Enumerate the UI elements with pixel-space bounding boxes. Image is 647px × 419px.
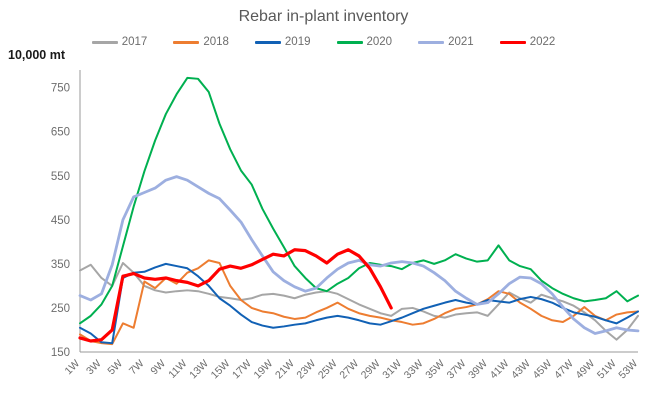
y-axis-tick-label: 350: [51, 259, 70, 271]
x-axis-tick-label: 21W: [273, 358, 297, 382]
x-axis-tick-label: 53W: [616, 358, 640, 382]
y-axis-tick-label: 750: [51, 83, 70, 95]
x-axis-tick-label: 13W: [187, 358, 211, 382]
y-axis-tick-label: 650: [51, 127, 70, 139]
x-axis-tick-label: 7W: [127, 358, 147, 378]
plot-area: 1502503504505506507501W3W5W7W9W11W13W15W…: [0, 0, 647, 419]
y-axis-tick-label: 450: [51, 215, 70, 227]
x-axis-tick-label: 25W: [316, 358, 340, 382]
x-axis-tick-label: 23W: [294, 358, 318, 382]
x-axis-tick-label: 37W: [445, 358, 469, 382]
x-axis-tick-label: 45W: [531, 358, 555, 382]
x-axis-tick-label: 47W: [552, 358, 576, 382]
x-axis-tick-label: 31W: [380, 358, 404, 382]
chart-container: Rebar in-plant inventory 10,000 mt 20172…: [0, 0, 647, 419]
x-axis-tick-label: 29W: [359, 358, 383, 382]
x-axis-tick-label: 33W: [402, 358, 426, 382]
x-axis-tick-label: 41W: [488, 358, 512, 382]
x-axis-tick-label: 39W: [466, 358, 490, 382]
x-axis-tick-label: 15W: [209, 358, 233, 382]
x-axis-tick-label: 51W: [595, 358, 619, 382]
series-line-2017: [80, 263, 638, 340]
x-axis-tick-label: 17W: [230, 358, 254, 382]
series-line-2020: [80, 78, 638, 323]
x-axis-tick-label: 9W: [148, 358, 168, 378]
y-axis-tick-label: 250: [51, 303, 70, 315]
x-axis-tick-label: 1W: [62, 358, 82, 378]
x-axis-tick-label: 35W: [423, 358, 447, 382]
x-axis-tick-label: 27W: [337, 358, 361, 382]
x-axis-tick-label: 19W: [252, 358, 276, 382]
x-axis-tick-label: 49W: [573, 358, 597, 382]
x-axis-tick-label: 11W: [166, 358, 189, 381]
series-line-2018: [80, 260, 638, 344]
y-axis-tick-label: 550: [51, 171, 70, 183]
series-line-2022: [80, 250, 391, 341]
x-axis-tick-label: 5W: [105, 358, 125, 378]
x-axis-tick-label: 43W: [509, 358, 533, 382]
y-axis-tick-label: 150: [51, 347, 70, 359]
x-axis-tick-label: 3W: [84, 358, 104, 378]
